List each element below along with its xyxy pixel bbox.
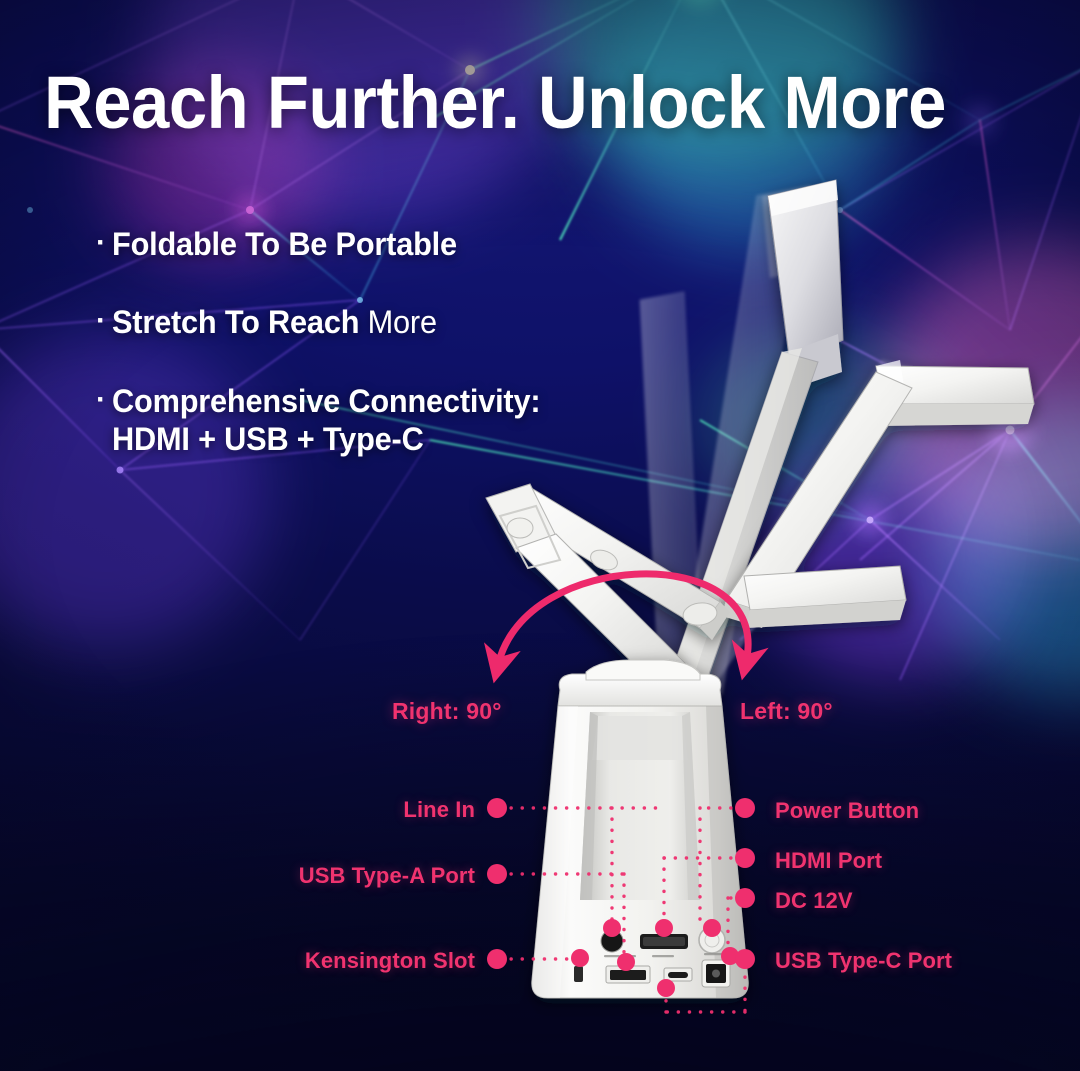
feature-item-connectivity: · Comprehensive Connectivity: HDMI + USB… [96,382,716,459]
rotation-label-left: Left: 90° [740,698,833,725]
callout-label-line-in: Line In [175,797,475,823]
callout-label-kensington-slot: Kensington Slot [175,948,475,974]
background-vignette [0,0,1080,1071]
callout-label-dc-12v: DC 12V [775,888,853,914]
bullet-dot-icon: · [96,382,112,418]
feature-label-connectivity-ports: HDMI + USB + Type-C [112,420,540,458]
callout-label-usb-type-c-port: USB Type-C Port [775,948,952,974]
bullet-dot-icon: · [96,303,112,339]
feature-label-foldable: Foldable To Be Portable [112,226,457,262]
feature-item-stretch: · Stretch To Reach More [96,303,716,341]
callout-label-usb-type-a: USB Type-A Port [175,863,475,889]
product-feature-graphic: Reach Further. Unlock More · Foldable To… [0,0,1080,1071]
bullet-dot-icon: · [96,225,112,261]
feature-label-stretch-more: More [368,304,437,340]
callout-label-power-button: Power Button [775,798,919,824]
feature-list: · Foldable To Be Portable · Stretch To R… [96,225,716,499]
page-title: Reach Further. Unlock More [44,66,974,140]
feature-item-foldable: · Foldable To Be Portable [96,225,716,263]
feature-label-stretch: Stretch To Reach [112,304,368,340]
feature-label-connectivity: Comprehensive Connectivity: [112,383,540,419]
rotation-label-right: Right: 90° [392,698,502,725]
callout-label-hdmi-port: HDMI Port [775,848,882,874]
